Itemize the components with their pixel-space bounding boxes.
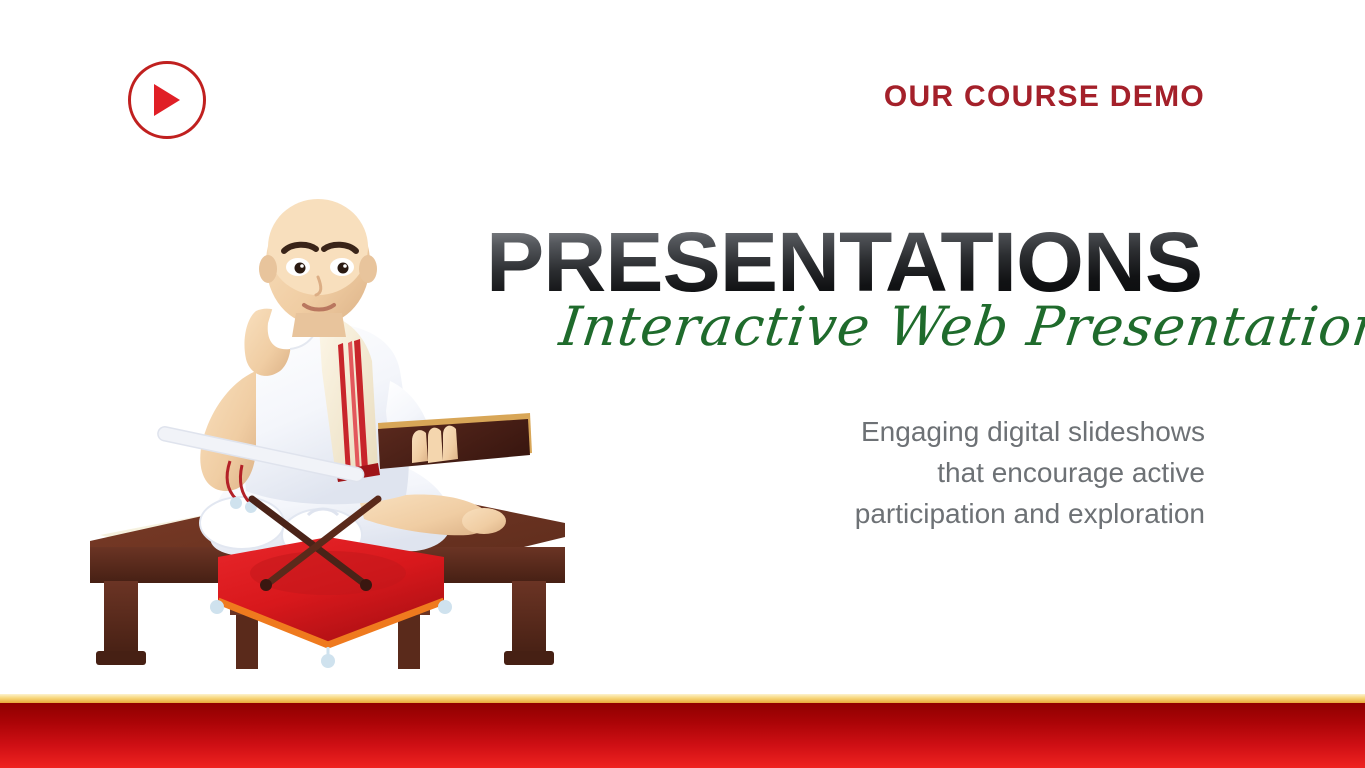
- illustration-seated-monk: [60, 185, 580, 705]
- kicker-label: OUR COURSE DEMO: [884, 80, 1205, 114]
- page-title: PRESENTATIONS: [486, 222, 1245, 303]
- script-subtitle: Interactive Web Presentations: [557, 300, 1224, 354]
- play-button[interactable]: [128, 61, 206, 139]
- slide-canvas: OUR COURSE DEMO PRESENTATIONS Interactiv…: [0, 0, 1365, 768]
- bottom-red-band: [0, 703, 1365, 768]
- gold-divider-band: [0, 694, 1365, 703]
- play-triangle-icon: [150, 82, 184, 118]
- body-paragraph: Engaging digital slideshows that encoura…: [775, 412, 1205, 535]
